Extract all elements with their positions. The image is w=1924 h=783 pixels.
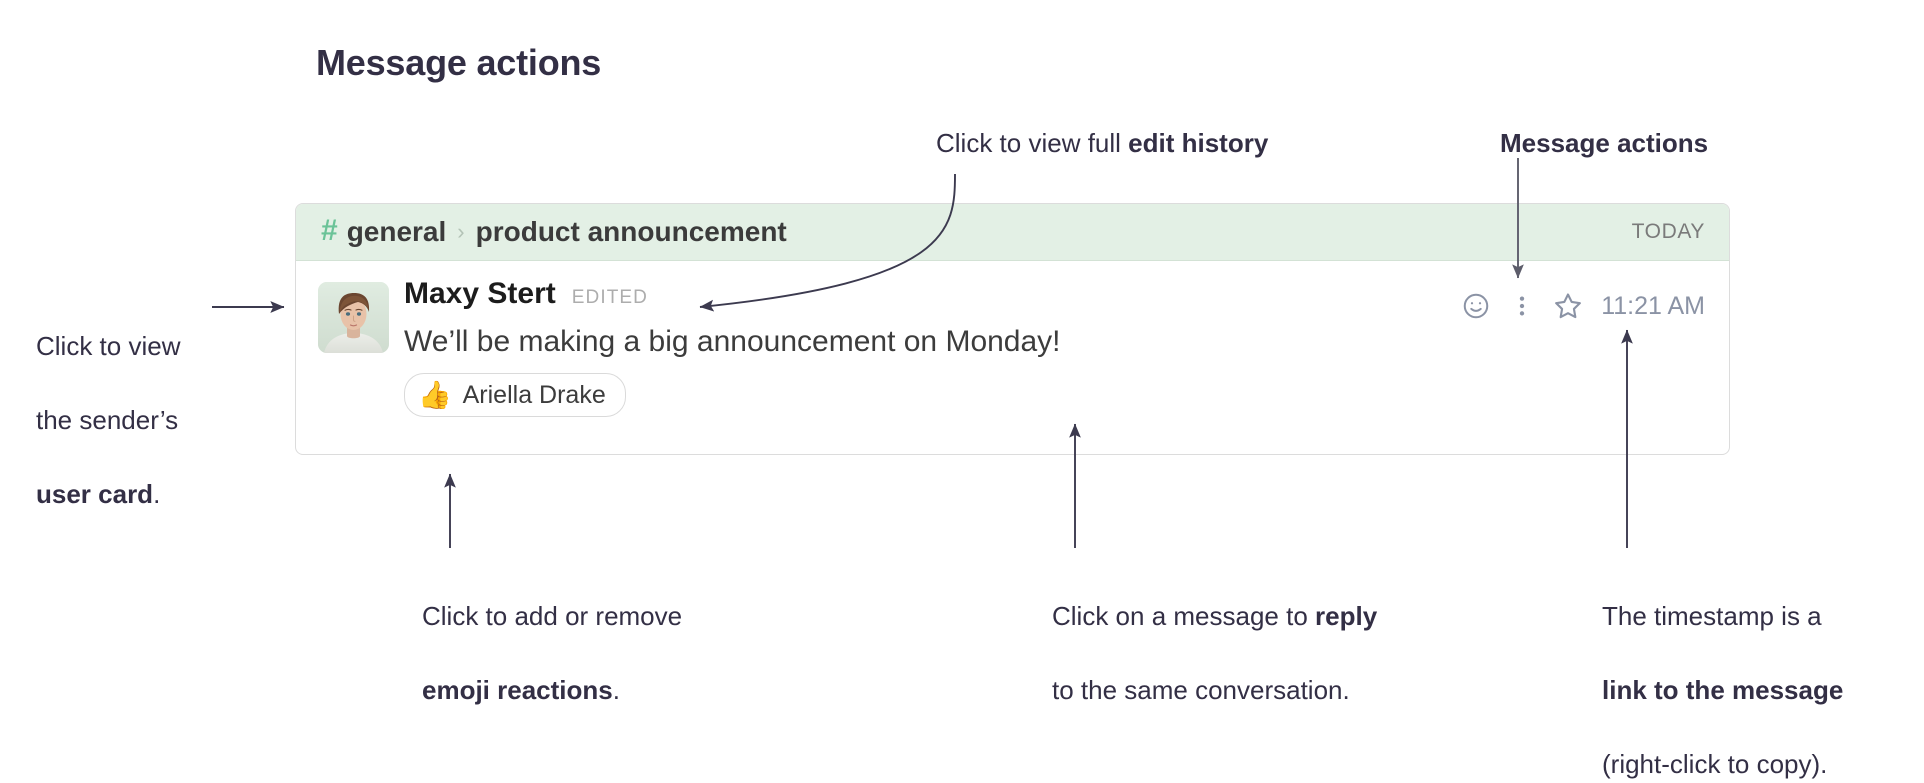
- message-action-buttons: 11:21 AM: [1453, 289, 1705, 323]
- timestamp-annotation: The timestamp is a link to the message (…: [1602, 561, 1843, 783]
- avatar[interactable]: [318, 282, 389, 353]
- message-actions-menu-icon[interactable]: [1499, 289, 1545, 323]
- page-title: Message actions: [316, 42, 601, 84]
- reactions-row: 👍 Ariella Drake: [404, 373, 1709, 417]
- thumbs-up-icon: 👍: [418, 380, 452, 410]
- annotation-text-bold: emoji reactions: [422, 675, 613, 705]
- annotation-text-plain: The timestamp is a: [1602, 601, 1822, 631]
- annotation-text-bold: link to the message: [1602, 675, 1843, 705]
- date-label: TODAY: [1632, 220, 1705, 244]
- hash-icon: #: [321, 216, 338, 246]
- page-root: Message actions Click to view full edit …: [0, 0, 1924, 696]
- annotation-text-plain: Click on a message to: [1052, 601, 1315, 631]
- annotation-text-plain: (right-click to copy).: [1602, 749, 1827, 779]
- message-card: # general › product announcement TODAY: [295, 203, 1730, 455]
- reaction-pill[interactable]: 👍 Ariella Drake: [404, 373, 626, 417]
- annotation-text-bold: edit history: [1128, 128, 1268, 158]
- message-timestamp-link[interactable]: 11:21 AM: [1601, 292, 1705, 321]
- message-body-text[interactable]: We’ll be making a big announcement on Mo…: [404, 323, 1709, 361]
- annotation-text-bold: reply: [1315, 601, 1377, 631]
- star-icon[interactable]: [1545, 289, 1591, 323]
- stream-name-link[interactable]: general: [347, 216, 447, 248]
- emoji-reaction-icon[interactable]: [1453, 289, 1499, 323]
- message-row[interactable]: Maxy Stert EDITED We’ll be making a big …: [296, 261, 1729, 455]
- reaction-label: Ariella Drake: [463, 381, 606, 410]
- annotation-text-bold: Message actions: [1500, 128, 1708, 158]
- annotation-text-plain: .: [153, 479, 160, 509]
- topic-name-link[interactable]: product announcement: [476, 216, 787, 248]
- user-card-annotation: Click to view the sender’s user card.: [36, 291, 180, 513]
- annotation-text-plain: Click to view full: [936, 128, 1128, 158]
- annotation-text-bold: user card: [36, 479, 153, 509]
- edited-badge[interactable]: EDITED: [572, 287, 648, 309]
- emoji-reactions-annotation: Click to add or remove emoji reactions.: [422, 561, 682, 709]
- annotation-text-plain: Click to view: [36, 331, 180, 361]
- annotation-text-plain: Click to add or remove: [422, 601, 682, 631]
- sender-name[interactable]: Maxy Stert: [404, 277, 556, 311]
- stream-topic-header: # general › product announcement TODAY: [296, 204, 1729, 261]
- chevron-right-icon: ›: [457, 221, 464, 243]
- annotation-text-plain: .: [613, 675, 620, 705]
- annotation-text-plain: to the same conversation.: [1052, 675, 1350, 705]
- reply-annotation: Click on a message to reply to the same …: [1052, 561, 1377, 709]
- annotation-text-plain: the sender’s: [36, 405, 178, 435]
